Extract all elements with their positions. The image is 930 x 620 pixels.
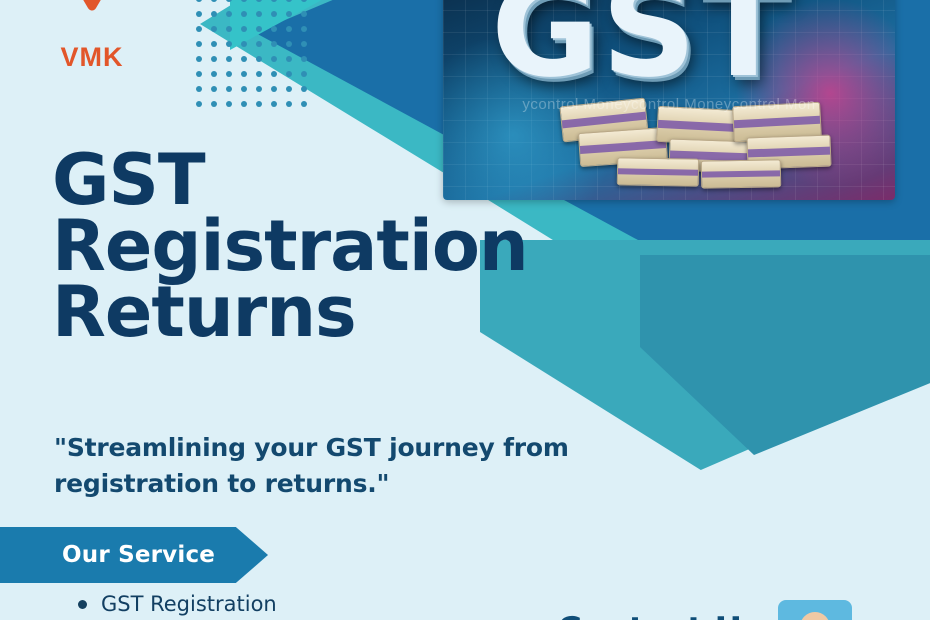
contact-title: Contact Us [557, 610, 762, 620]
tagline-line-2: registration to returns." [54, 469, 389, 498]
dot [256, 41, 262, 47]
dot [286, 0, 292, 2]
poster-canvas: VMK GST ycontrol Moneycontrol Moneycontr… [0, 0, 930, 620]
dot [226, 41, 232, 47]
dot [211, 26, 217, 32]
dot [196, 41, 202, 47]
dot [196, 26, 202, 32]
dot [286, 71, 292, 77]
dot [226, 71, 232, 77]
dot [196, 101, 202, 107]
dot [256, 86, 262, 92]
tagline-line-1: "Streamlining your GST journey from [54, 433, 569, 462]
dot [271, 86, 277, 92]
dot [256, 11, 262, 17]
dot [241, 101, 247, 107]
dot [286, 56, 292, 62]
dot [211, 0, 217, 2]
headline-line-1: GST [52, 148, 592, 214]
dot [286, 41, 292, 47]
contact-block: Contact Us [557, 600, 852, 620]
dot [211, 56, 217, 62]
dot [301, 26, 307, 32]
dot [241, 56, 247, 62]
brand-logo-text: VMK [52, 42, 132, 73]
dot [226, 56, 232, 62]
dot [301, 41, 307, 47]
brand-logo: VMK [52, 0, 132, 73]
dot [196, 56, 202, 62]
dot [196, 86, 202, 92]
dot [256, 71, 262, 77]
dot [271, 41, 277, 47]
dot [301, 86, 307, 92]
dot [256, 26, 262, 32]
dot [241, 26, 247, 32]
dot [226, 11, 232, 17]
dot [256, 101, 262, 107]
dot [196, 0, 202, 2]
dot [241, 11, 247, 17]
dot [271, 71, 277, 77]
service-item-label: GST Registration [101, 592, 277, 616]
dot-grid-decoration [196, 0, 312, 112]
dot [271, 56, 277, 62]
dot [211, 101, 217, 107]
bullet-icon [78, 600, 87, 609]
dot [196, 71, 202, 77]
list-item: GST Registration [78, 590, 498, 618]
dot [226, 26, 232, 32]
headline-line-3: Returns [52, 280, 592, 346]
dot [286, 11, 292, 17]
dot [241, 41, 247, 47]
page-title: GST Registration Returns [52, 148, 592, 345]
dot [301, 56, 307, 62]
dot [211, 11, 217, 17]
dot [256, 56, 262, 62]
dot [226, 86, 232, 92]
dot [241, 86, 247, 92]
dot [271, 11, 277, 17]
dot [301, 11, 307, 17]
headline-line-2: Registration [52, 214, 592, 280]
dot [271, 26, 277, 32]
our-service-ribbon: Our Service [0, 527, 268, 583]
dot [271, 0, 277, 2]
service-list: GST Registration [78, 590, 498, 618]
person-avatar-icon [778, 600, 852, 620]
dot [301, 101, 307, 107]
chevron-heart-logo-icon [57, 0, 127, 40]
dot [301, 0, 307, 2]
avatar-head [800, 612, 830, 620]
dot [211, 71, 217, 77]
dot [271, 101, 277, 107]
hero-watermark-text: ycontrol Moneycontrol Moneycontrol Mon [443, 96, 895, 113]
dot [286, 101, 292, 107]
dot [211, 86, 217, 92]
our-service-label: Our Service [0, 542, 215, 568]
dot [241, 0, 247, 2]
dot [196, 11, 202, 17]
tagline: "Streamlining your GST journey from regi… [54, 430, 634, 503]
dot [286, 26, 292, 32]
hero-gst-word: GST [491, 0, 790, 96]
currency-bundle [701, 159, 781, 188]
dot [211, 41, 217, 47]
dot [226, 101, 232, 107]
dot [301, 71, 307, 77]
dot [286, 86, 292, 92]
dot [241, 71, 247, 77]
currency-bundle [617, 157, 699, 186]
dot [256, 0, 262, 2]
dot [226, 0, 232, 2]
